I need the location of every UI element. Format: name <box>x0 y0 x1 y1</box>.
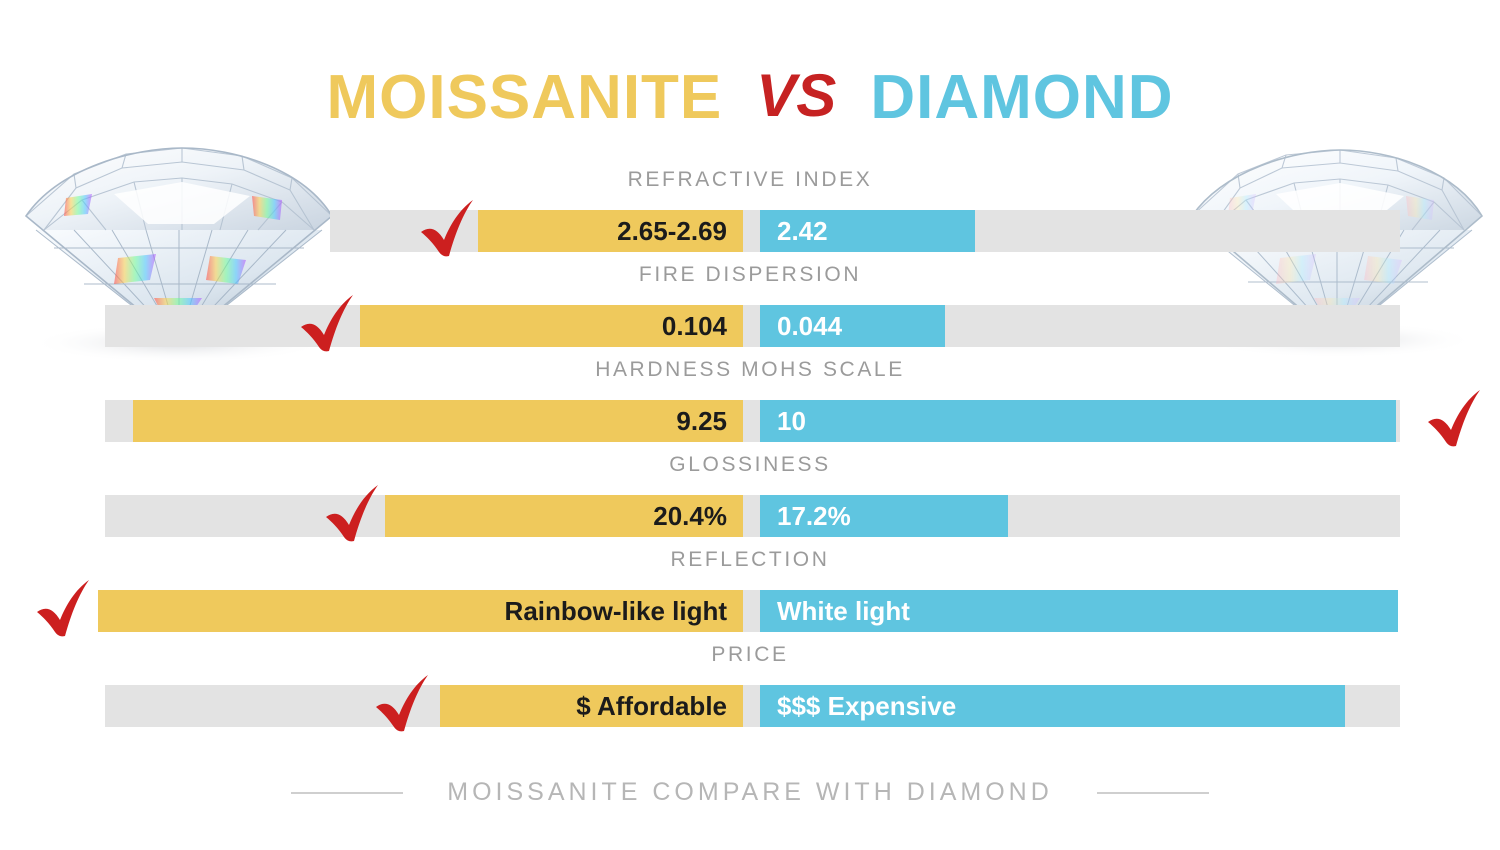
diamond-bar: 2.42 <box>760 210 975 252</box>
title-diamond: DIAMOND <box>870 62 1173 133</box>
moissanite-value: 9.25 <box>676 406 743 437</box>
comparison-row: FIRE DISPERSION 0.104 0.044 <box>0 263 1500 358</box>
row-label-2: HARDNESS MOHS SCALE <box>0 358 1500 382</box>
moissanite-value: $ Affordable <box>576 691 743 722</box>
winner-check-icon <box>1424 388 1486 452</box>
footer: MOISSANITE COMPARE WITH DIAMOND <box>0 778 1500 807</box>
infographic-canvas: MOISSANITEVSDIAMOND <box>0 0 1500 850</box>
moissanite-value: Rainbow-like light <box>505 596 743 627</box>
diamond-value: White light <box>760 596 910 627</box>
page-title: MOISSANITEVSDIAMOND <box>0 62 1500 133</box>
comparison-row: PRICE $ Affordable $$$ Expensive <box>0 643 1500 738</box>
title-moissanite: MOISSANITE <box>326 62 722 133</box>
row-label-3: GLOSSINESS <box>0 453 1500 477</box>
row-label-0: REFRACTIVE INDEX <box>0 168 1500 192</box>
diamond-bar: White light <box>760 590 1398 632</box>
diamond-value: 0.044 <box>760 311 842 342</box>
moissanite-bar: $ Affordable <box>440 685 743 727</box>
footer-rule-right <box>1097 792 1209 794</box>
moissanite-bar: 0.104 <box>360 305 743 347</box>
comparison-row: REFRACTIVE INDEX 2.65-2.69 2.42 <box>0 168 1500 263</box>
diamond-bar: 17.2% <box>760 495 1008 537</box>
comparison-row: REFLECTION Rainbow-like light White ligh… <box>0 548 1500 643</box>
diamond-bar: 0.044 <box>760 305 945 347</box>
winner-check-icon <box>297 293 359 357</box>
moissanite-value: 2.65-2.69 <box>617 216 743 247</box>
winner-check-icon <box>33 578 95 642</box>
moissanite-value: 0.104 <box>662 311 743 342</box>
winner-check-icon <box>372 673 434 737</box>
comparison-row: GLOSSINESS 20.4% 17.2% <box>0 453 1500 548</box>
winner-check-icon <box>322 483 384 547</box>
footer-caption: MOISSANITE COMPARE WITH DIAMOND <box>447 778 1053 807</box>
diamond-bar: $$$ Expensive <box>760 685 1345 727</box>
diamond-value: 10 <box>760 406 806 437</box>
title-vs: VS <box>722 61 870 130</box>
diamond-value: 2.42 <box>760 216 828 247</box>
comparison-rows: REFRACTIVE INDEX 2.65-2.69 2.42 FIRE DIS… <box>0 168 1500 738</box>
diamond-bar: 10 <box>760 400 1396 442</box>
moissanite-value: 20.4% <box>653 501 743 532</box>
row-label-5: PRICE <box>0 643 1500 667</box>
diamond-value: 17.2% <box>760 501 851 532</box>
comparison-row: HARDNESS MOHS SCALE 9.25 10 <box>0 358 1500 453</box>
moissanite-bar: 20.4% <box>385 495 743 537</box>
row-track <box>105 495 1400 537</box>
moissanite-bar: Rainbow-like light <box>98 590 743 632</box>
moissanite-bar: 2.65-2.69 <box>478 210 743 252</box>
diamond-value: $$$ Expensive <box>760 691 956 722</box>
winner-check-icon <box>417 198 479 262</box>
moissanite-bar: 9.25 <box>133 400 743 442</box>
footer-rule-left <box>291 792 403 794</box>
row-label-1: FIRE DISPERSION <box>0 263 1500 287</box>
row-label-4: REFLECTION <box>0 548 1500 572</box>
